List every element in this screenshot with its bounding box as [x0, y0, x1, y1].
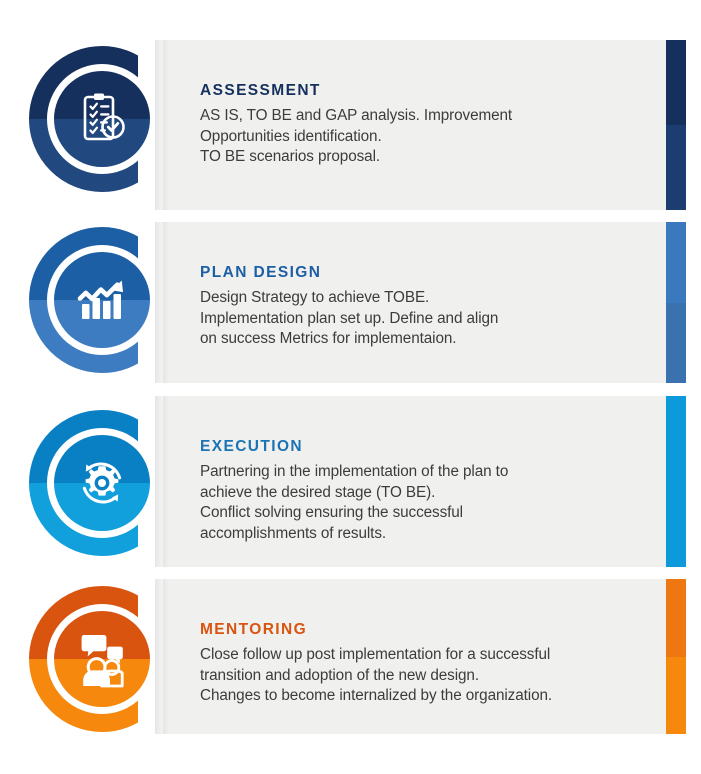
step-icon-plan-design — [72, 270, 132, 330]
clipboard-check-icon — [72, 89, 132, 149]
step-description-execution: Partnering in the implementation of the … — [200, 462, 655, 544]
step-text-mentoring: MENTORINGClose follow up post implementa… — [200, 621, 655, 707]
step-description-assessment: AS IS, TO BE and GAP analysis. Improveme… — [200, 106, 655, 168]
step-title-plan-design: PLAN DESIGN — [200, 264, 655, 281]
step-badge-plan-design — [28, 226, 176, 374]
step-icon-execution — [72, 453, 132, 513]
accent-bar-top — [666, 222, 686, 303]
people-chat-icon — [72, 629, 132, 689]
step-description-plan-design: Design Strategy to achieve TOBE. Impleme… — [200, 288, 655, 350]
accent-bar-top — [666, 396, 686, 482]
accent-bar-bottom — [666, 482, 686, 568]
accent-bar-bottom — [666, 303, 686, 384]
step-title-execution: EXECUTION — [200, 438, 655, 455]
accent-bar-bottom — [666, 657, 686, 735]
accent-bar-top — [666, 40, 686, 125]
accent-bar-plan-design — [666, 222, 686, 383]
accent-bar-top — [666, 579, 686, 657]
step-badge-mentoring — [28, 585, 176, 733]
step-text-plan-design: PLAN DESIGNDesign Strategy to achieve TO… — [200, 264, 655, 350]
accent-bar-bottom — [666, 125, 686, 210]
step-icon-mentoring — [72, 629, 132, 689]
accent-bar-mentoring — [666, 579, 686, 734]
accent-bar-assessment — [666, 40, 686, 210]
step-icon-assessment — [72, 89, 132, 149]
process-infographic: ASSESSMENTAS IS, TO BE and GAP analysis.… — [0, 0, 701, 774]
gear-refresh-icon — [72, 453, 132, 513]
growth-chart-icon — [72, 270, 132, 330]
step-title-mentoring: MENTORING — [200, 621, 655, 638]
step-badge-assessment — [28, 45, 176, 193]
step-badge-execution — [28, 409, 176, 557]
step-text-execution: EXECUTIONPartnering in the implementatio… — [200, 438, 655, 544]
step-title-assessment: ASSESSMENT — [200, 82, 655, 99]
accent-bar-execution — [666, 396, 686, 567]
step-text-assessment: ASSESSMENTAS IS, TO BE and GAP analysis.… — [200, 82, 655, 168]
step-description-mentoring: Close follow up post implementation for … — [200, 645, 655, 707]
